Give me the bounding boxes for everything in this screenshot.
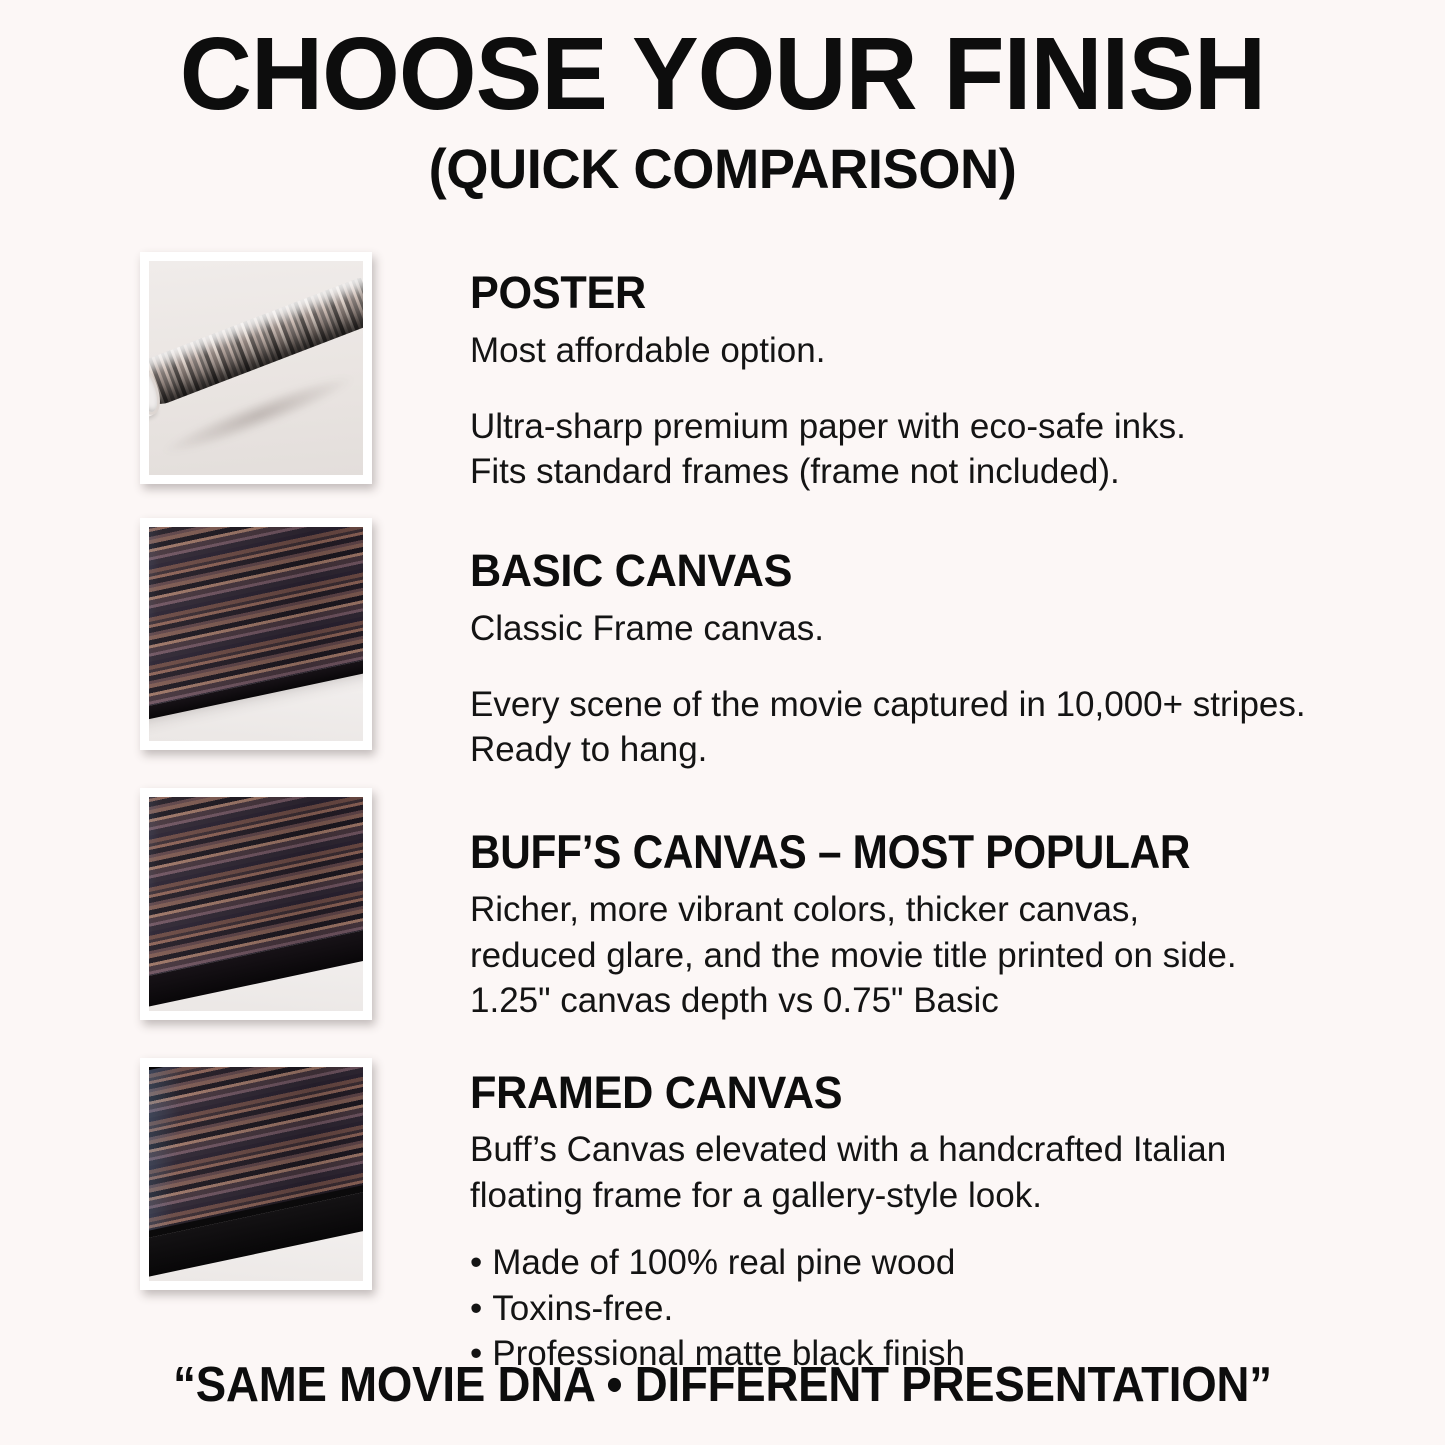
option-title-buffs-canvas: BUFF’S CANVAS – MOST POPULAR [470, 828, 1312, 875]
basic-canvas-slab [149, 527, 363, 712]
thumbnail-card-poster[interactable] [140, 252, 372, 484]
option-row-framed-canvas: FRAMED CANVAS Buff’s Canvas elevated wit… [0, 1058, 1445, 1328]
basic-canvas-art [149, 527, 363, 741]
option-title-poster: POSTER [470, 270, 1368, 315]
option-lead-poster: Most affordable option. [470, 329, 1405, 374]
list-item: •Made of 100% real pine wood [470, 1240, 1405, 1286]
thumbnail-card-buffs-canvas[interactable] [140, 788, 372, 1020]
option-text-buffs-canvas: BUFF’S CANVAS – MOST POPULAR Richer, mor… [470, 788, 1445, 1024]
option-row-buffs-canvas: BUFF’S CANVAS – MOST POPULAR Richer, mor… [0, 788, 1445, 1058]
option-body-poster: Ultra-sharp premium paper with eco-safe … [470, 404, 1405, 495]
framed-canvas-image [149, 1067, 363, 1281]
list-item-label: Made of 100% real pine wood [492, 1243, 955, 1282]
option-text-basic-canvas: BASIC CANVAS Classic Frame canvas. Every… [470, 518, 1445, 773]
footer: “SAME MOVIE DNA • DIFFERENT PRESENTATION… [0, 1357, 1445, 1413]
option-row-basic-canvas: BASIC CANVAS Classic Frame canvas. Every… [0, 518, 1445, 788]
page-title: CHOOSE YOUR FINISH [22, 22, 1424, 125]
option-body-framed-canvas: Buff’s Canvas elevated with a handcrafte… [470, 1127, 1405, 1218]
header: CHOOSE YOUR FINISH (QUICK COMPARISON) [0, 0, 1445, 197]
option-row-poster: POSTER Most affordable option. Ultra-sha… [0, 252, 1445, 518]
footer-tagline: “SAME MOVIE DNA • DIFFERENT PRESENTATION… [51, 1357, 1395, 1413]
thumbnail-card-basic-canvas[interactable] [140, 518, 372, 750]
basic-canvas-image [149, 527, 363, 741]
option-title-basic-canvas: BASIC CANVAS [470, 548, 1368, 593]
thumbnail-wrap-buffs-canvas [140, 788, 387, 1020]
option-text-framed-canvas: FRAMED CANVAS Buff’s Canvas elevated wit… [470, 1058, 1445, 1377]
list-item-label: Toxins-free. [492, 1289, 673, 1328]
thumbnail-wrap-framed-canvas [140, 1058, 387, 1290]
bullet-icon: • [470, 1289, 482, 1328]
option-body-basic-canvas: Every scene of the movie captured in 10,… [470, 682, 1405, 773]
option-body-buffs-canvas: Richer, more vibrant colors, thicker can… [470, 887, 1405, 1024]
page-subtitle: (QUICK COMPARISON) [22, 141, 1424, 197]
option-text-poster: POSTER Most affordable option. Ultra-sha… [470, 252, 1445, 495]
buffs-canvas-art [149, 797, 363, 1011]
buffs-canvas-image [149, 797, 363, 1011]
poster-art [149, 261, 363, 475]
bullet-icon: • [470, 1243, 482, 1282]
framed-canvas-frame [149, 1067, 363, 1243]
thumbnail-wrap-basic-canvas [140, 518, 387, 750]
infographic-page: CHOOSE YOUR FINISH (QUICK COMPARISON) [0, 0, 1445, 1445]
options-list: POSTER Most affordable option. Ultra-sha… [0, 252, 1445, 1328]
framed-canvas-art [149, 1067, 363, 1281]
list-item: •Toxins-free. [470, 1286, 1405, 1332]
thumbnail-wrap-poster [140, 252, 387, 484]
option-title-framed-canvas: FRAMED CANVAS [470, 1070, 1368, 1115]
poster-roll-image [149, 261, 363, 475]
option-lead-basic-canvas: Classic Frame canvas. [470, 607, 1405, 652]
thumbnail-card-framed-canvas[interactable] [140, 1058, 372, 1290]
buffs-canvas-slab [149, 797, 363, 982]
